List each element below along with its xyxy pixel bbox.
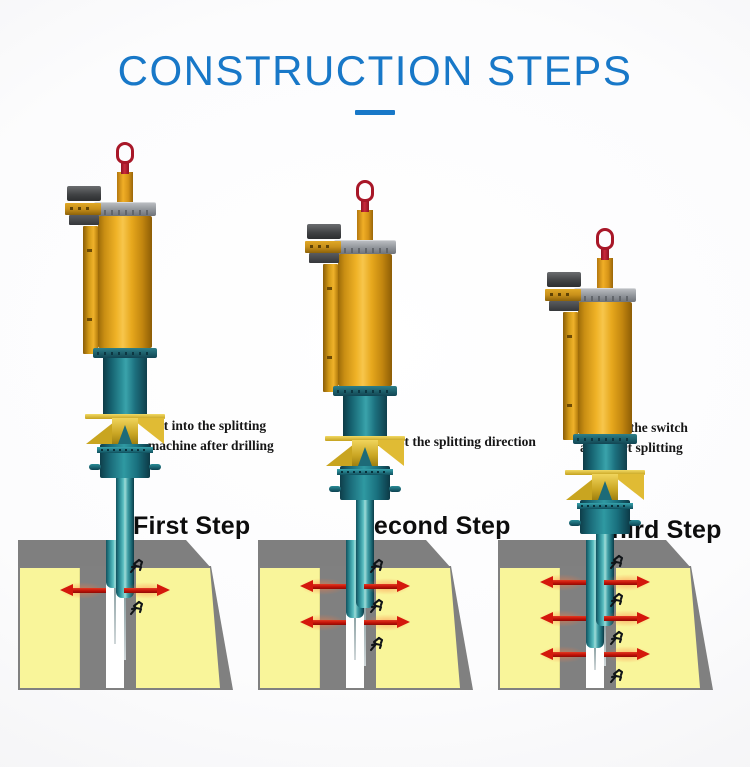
piston-rod [117, 172, 133, 204]
split-force-arrow-pair [18, 584, 233, 597]
arrow-left-icon [540, 576, 586, 589]
collar-band [577, 503, 633, 509]
motor-box [67, 186, 101, 201]
title-underline-rule [355, 110, 395, 115]
arrow-left-icon [60, 584, 106, 597]
arrow-shaft [73, 588, 106, 593]
arrow-left-icon [540, 648, 586, 661]
arrow-head [60, 584, 73, 596]
arrow-shaft [364, 620, 397, 625]
lifting-ring-icon [116, 142, 134, 164]
side-valve-plate [83, 226, 98, 354]
arrow-shaft [313, 620, 346, 625]
splitting-wedge [116, 478, 134, 598]
side-valve-plate [323, 264, 338, 392]
motor-bracket [309, 253, 339, 263]
page-title: CONSTRUCTION STEPS [0, 50, 750, 92]
piston-rod [357, 210, 373, 242]
lower-flange [93, 348, 157, 358]
arrow-shaft [364, 584, 397, 589]
crack-icon [368, 558, 390, 578]
split-force-arrow-pair [498, 576, 713, 589]
arrow-left-icon [540, 612, 586, 625]
arrow-head [300, 580, 313, 592]
crack-icon [608, 630, 630, 650]
arrow-shaft [124, 588, 157, 593]
side-valve-plate [563, 312, 578, 440]
gold-cone-bracket [86, 418, 164, 444]
lower-flange [333, 386, 397, 396]
arrow-head [637, 648, 650, 660]
split-force-arrow-pair [258, 580, 473, 593]
crack-icon [608, 668, 630, 688]
collar-bolt-ears [569, 520, 641, 526]
wedge-tip [124, 598, 126, 660]
arrow-head [397, 616, 410, 628]
split-force-arrow-pair [498, 612, 713, 625]
arrow-right-icon [604, 576, 650, 589]
arrow-left-icon [300, 580, 346, 593]
hydraulic-cylinder [338, 254, 392, 386]
arrow-shaft [313, 584, 346, 589]
gold-cone-bracket [326, 440, 404, 466]
crack-icon [608, 554, 630, 574]
arrow-head [637, 612, 650, 624]
hydraulic-cylinder [98, 216, 152, 348]
motor-box [307, 224, 341, 239]
arrow-head [540, 648, 553, 660]
crack-icon [368, 598, 390, 618]
control-switch-box [305, 241, 341, 253]
crack-icon [608, 592, 630, 612]
arrow-head [300, 616, 313, 628]
crack-icon [128, 600, 150, 620]
hydraulic-cylinder [578, 302, 632, 434]
arrow-shaft [604, 616, 637, 621]
arrow-right-icon [124, 584, 170, 597]
collar-bolt-ears [329, 486, 401, 492]
piston-rod [597, 258, 613, 290]
arrow-right-icon [604, 612, 650, 625]
crack-icon [368, 636, 390, 656]
split-force-arrow-pair [258, 616, 473, 629]
split-force-arrow-pair [498, 648, 713, 661]
gold-cone-bracket [566, 474, 644, 500]
collar-band [337, 469, 393, 475]
arrow-shaft [553, 652, 586, 657]
cap-flange-bolts [337, 248, 393, 253]
arrow-head [397, 580, 410, 592]
arrow-left-icon [300, 616, 346, 629]
teal-neck [103, 358, 147, 418]
arrow-shaft [553, 616, 586, 621]
lifting-ring-icon [596, 228, 614, 250]
cone-segment [112, 418, 138, 444]
arrow-right-icon [364, 580, 410, 593]
motor-bracket [549, 301, 579, 311]
lower-flange [573, 434, 637, 444]
cone-segment [592, 474, 618, 500]
construction-steps-infographic: CONSTRUCTION STEPS Put into the splittin… [0, 0, 750, 767]
cap-flange-bolts [97, 210, 153, 215]
arrow-head [637, 576, 650, 588]
cone-segment [352, 440, 378, 466]
step-panel-2: Adjust the splitting directionSecond Ste… [240, 120, 490, 720]
collar-band [97, 447, 153, 453]
control-switch-box [65, 203, 101, 215]
teal-neck [343, 396, 387, 440]
header: CONSTRUCTION STEPS [0, 50, 750, 115]
crack-icon [128, 558, 150, 578]
lifting-ring-icon [356, 180, 374, 202]
step-panel-3: Turn on the switchand start splittingThi… [480, 120, 730, 720]
step-label-1: First Step [133, 512, 250, 541]
arrow-head [540, 612, 553, 624]
arrow-head [540, 576, 553, 588]
control-switch-box [545, 289, 581, 301]
arrow-shaft [604, 580, 637, 585]
collar-bolt-ears [89, 464, 161, 470]
step-panel-1: Put into the splittingmachine after dril… [0, 120, 250, 720]
arrow-head [157, 584, 170, 596]
motor-box [547, 272, 581, 287]
motor-bracket [69, 215, 99, 225]
arrow-shaft [553, 580, 586, 585]
cap-flange-bolts [577, 296, 633, 301]
arrow-shaft [604, 652, 637, 657]
